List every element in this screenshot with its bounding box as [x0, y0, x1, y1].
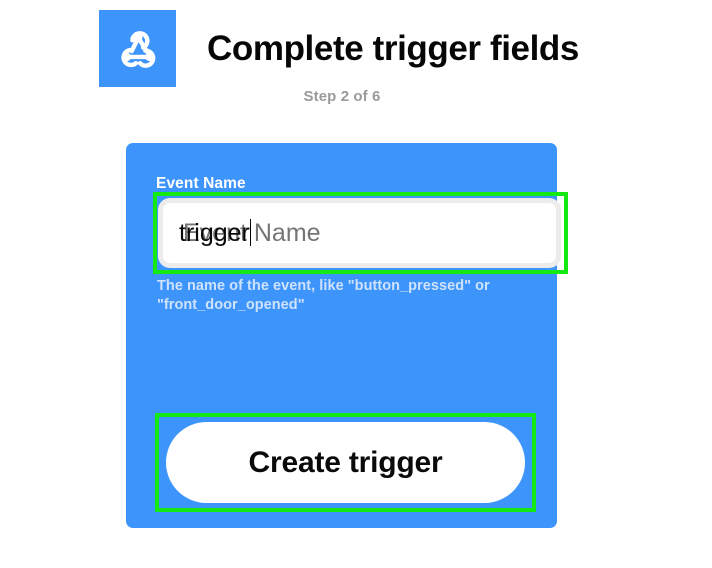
webhooks-logo-icon	[99, 10, 176, 87]
event-name-input[interactable]	[158, 198, 561, 268]
page-title: Complete trigger fields	[207, 31, 579, 66]
create-trigger-button[interactable]: Create trigger	[166, 422, 525, 503]
page-header: Complete trigger fields Step 2 of 6	[0, 0, 712, 130]
header-row: Complete trigger fields	[99, 10, 579, 87]
event-name-label: Event Name	[156, 175, 246, 193]
trigger-fields-card: Event Name trigger The name of the event…	[126, 143, 557, 528]
step-indicator: Step 2 of 6	[0, 88, 684, 105]
event-name-help-text: The name of the event, like "button_pres…	[157, 277, 517, 315]
